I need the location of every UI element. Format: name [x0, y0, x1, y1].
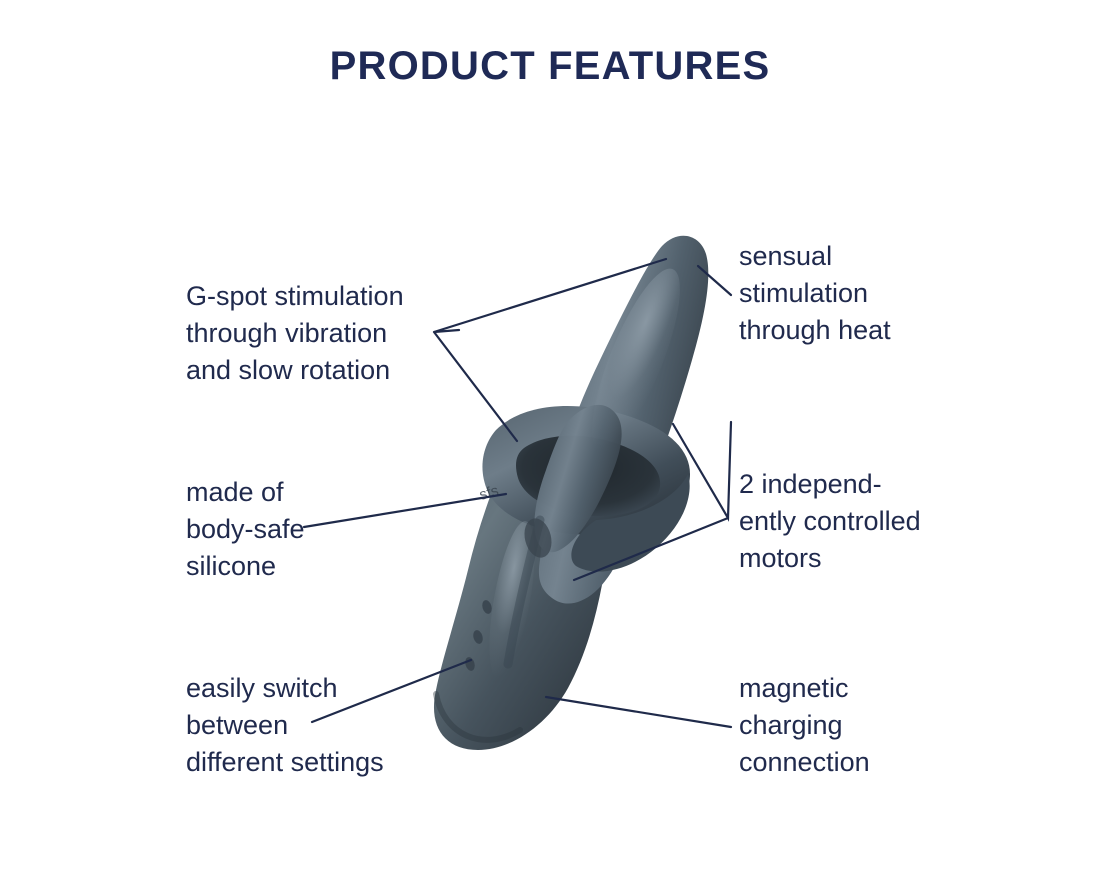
feature-label-silicone: made of body-safe silicone: [186, 474, 436, 585]
feature-label-switch: easily switch between different settings: [186, 670, 454, 781]
product-features-page: PRODUCT FEATURES: [0, 0, 1100, 888]
product-body: sfs: [434, 236, 708, 750]
feature-label-heat: sensual stimulation through heat: [739, 238, 969, 349]
feature-label-gspot: G-spot stimulation through vibration and…: [186, 278, 454, 389]
feature-label-magnetic: magnetic charging connection: [739, 670, 969, 781]
feature-label-motors: 2 independ- ently controlled motors: [739, 466, 969, 577]
leader-magnetic: [546, 697, 731, 727]
